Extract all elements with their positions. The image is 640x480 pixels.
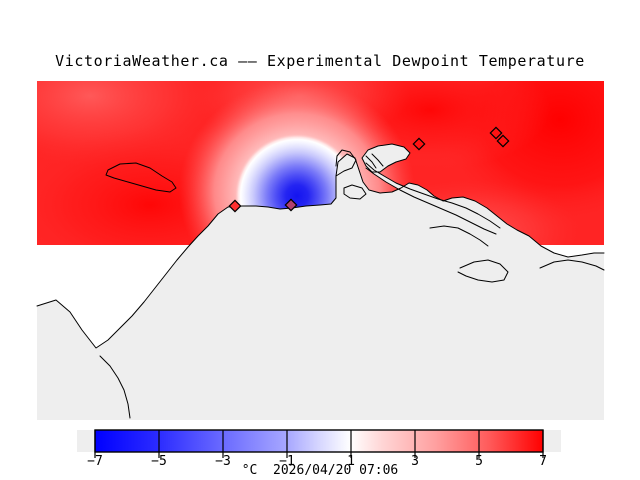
colorbar-gradient[interactable]: [95, 430, 543, 452]
colorbar-overflow-block: [543, 430, 561, 452]
colorbar-caption: °C 2026/04/20 07:06: [0, 463, 640, 478]
colorbar-underflow-block: [77, 430, 95, 452]
map-panel: [0, 0, 640, 420]
weather-map-page: VictoriaWeather.ca —— Experimental Dewpo…: [0, 0, 640, 480]
map-svg: [0, 0, 640, 420]
